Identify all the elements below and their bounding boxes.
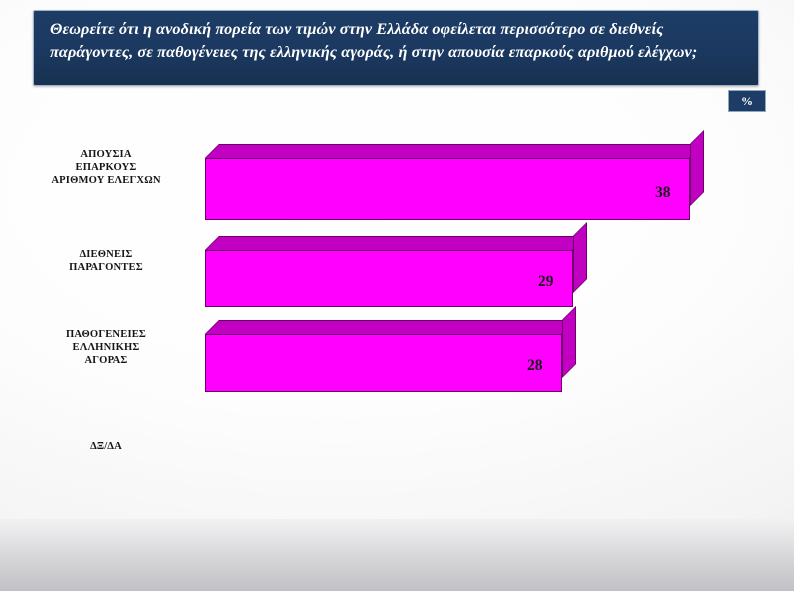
footer-bar: A NEWS alco The pulse of society — [0, 519, 794, 591]
percent-unit-badge: % — [728, 90, 766, 112]
bar-side-face — [573, 222, 587, 293]
question-title-banner: Θεωρείτε ότι η ανοδική πορεία των τιμών … — [33, 10, 759, 86]
bar-value-label: 29 — [538, 273, 554, 291]
chart-plot-area: ΑΠΟΥΣΙΑ ΕΠΑΡΚΟΥΣ ΑΡΙΘΜΟΥ ΕΛΕΓΧΩΝ 38 ΔΙΕΘ… — [0, 120, 794, 510]
chart-row: ΠΑΘΟΓΕΝΕΙΕΣ ΕΛΛΗΝΙΚΗΣ ΑΓΟΡΑΣ 28 — [0, 304, 794, 392]
bar-front-face — [205, 250, 573, 307]
bar-top-face — [205, 236, 587, 250]
category-label: ΑΠΟΥΣΙΑ ΕΠΑΡΚΟΥΣ ΑΡΙΘΜΟΥ ΕΛΕΓΧΩΝ — [20, 148, 192, 187]
bar-side-face — [562, 306, 576, 378]
category-label: ΠΑΘΟΓΕΝΕΙΕΣ ΕΛΛΗΝΙΚΗΣ ΑΓΟΡΑΣ — [20, 328, 192, 367]
chart-row: ΑΠΟΥΣΙΑ ΕΠΑΡΚΟΥΣ ΑΡΙΘΜΟΥ ΕΛΕΓΧΩΝ 38 — [0, 120, 794, 218]
bar-front-face — [205, 158, 690, 220]
bar-front-face — [205, 334, 562, 392]
category-label: ΔΞ/ΔΑ — [20, 440, 192, 453]
bar-side-face — [690, 130, 704, 206]
bar-top-face — [205, 144, 704, 158]
bar-top-face — [205, 320, 576, 334]
chart-row: ΔΙΕΘΝΕΙΣ ΠΑΡΑΓΟΝΤΕΣ 29 — [0, 218, 794, 304]
chart-row: ΔΞ/ΔΑ 5 — [0, 392, 794, 482]
bar-value-label: 28 — [527, 357, 543, 375]
category-label: ΔΙΕΘΝΕΙΣ ΠΑΡΑΓΟΝΤΕΣ — [20, 248, 192, 274]
slide-root: Θεωρείτε ότι η ανοδική πορεία των τιμών … — [0, 0, 794, 591]
page-title: Θεωρείτε ότι η ανοδική πορεία των τιμών … — [50, 18, 744, 63]
bar-value-label: 38 — [655, 184, 671, 202]
